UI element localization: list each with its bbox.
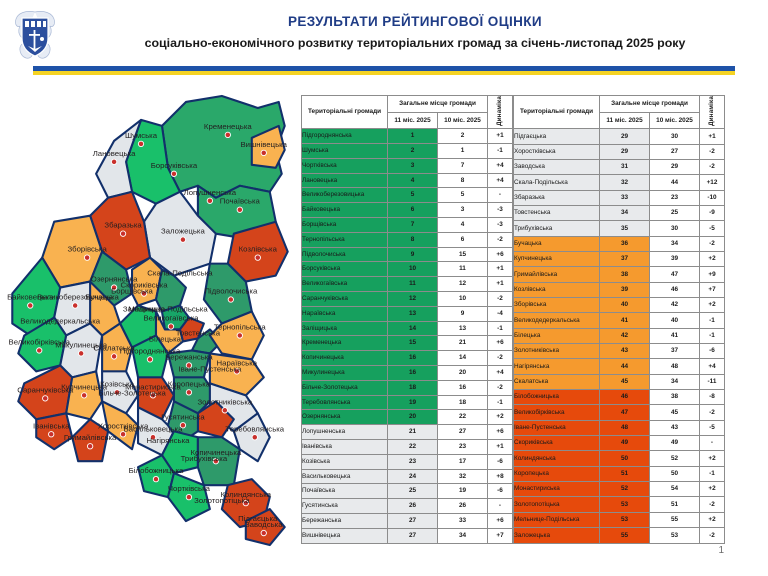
cell-dynamics: +1 [700,129,725,144]
cell-rank-10-months: 38 [650,390,700,405]
table-row[interactable]: Золотопотіцька5351-2 [514,497,725,512]
table-row[interactable]: Саранчуківська1210-2 [302,291,513,306]
table-row[interactable]: Підгаєцька2930+1 [514,129,725,144]
cell-rank-11-months: 27 [388,513,438,528]
th-overall-place: Загальне місце громади [600,96,700,113]
ternopil-oblast-map[interactable]: ШумськаКременецькаЛановецькаБорсуківська… [0,84,300,554]
cell-hromada-name: Підгаєцька [514,129,600,144]
cell-dynamics: -2 [700,236,725,251]
table-row[interactable]: Копичинецька1614-2 [302,351,513,366]
cell-rank-10-months: 50 [650,466,700,481]
table-row[interactable]: Скориківська4949- [514,436,725,451]
table-row[interactable]: Збаразька3323-10 [514,190,725,205]
cell-rank-10-months: 30 [650,129,700,144]
table-row[interactable]: Білецька4241-1 [514,328,725,343]
table-row[interactable]: Монастириська5254+2 [514,482,725,497]
cell-hromada-name: Заводська [514,159,600,174]
cell-dynamics: -8 [700,390,725,405]
cell-rank-10-months: 13 [438,321,488,336]
cell-dynamics: -6 [488,484,513,499]
cell-rank-10-months: 27 [650,144,700,159]
table-row[interactable]: Байковецька63-3 [302,203,513,218]
map-region-koropetska[interactable] [36,413,72,449]
cell-hromada-name: Великобірківська [514,405,600,420]
cell-hromada-name: Теребовлянська [302,395,388,410]
cell-dynamics: +1 [488,129,513,144]
cell-dynamics: +4 [488,158,513,173]
table-row[interactable]: Борщівська74-3 [302,217,513,232]
cell-dynamics: +2 [700,297,725,312]
cell-rank-11-months: 8 [388,232,438,247]
cell-rank-10-months: 40 [650,313,700,328]
table-row[interactable]: Борсуківська1011+1 [302,262,513,277]
cell-hromada-name: Вишнівецька [302,528,388,543]
table-row[interactable]: Іване-Пустенська4843-5 [514,420,725,435]
table-row[interactable]: Підволочиська915+6 [302,247,513,262]
header-row-1: Територіальні громади Загальне місце гро… [302,96,513,113]
header-row-1: Територіальні громади Загальне місце гро… [514,96,725,113]
cell-rank-11-months: 15 [388,336,438,351]
cell-rank-11-months: 16 [388,365,438,380]
cell-hromada-name: Великогаївська [302,277,388,292]
cell-rank-11-months: 53 [600,497,650,512]
table-head-left: Територіальні громади Загальне місце гро… [302,96,513,129]
cell-rank-10-months: 20 [438,365,488,380]
cell-rank-11-months: 40 [600,297,650,312]
cell-rank-11-months: 14 [388,321,438,336]
cell-rank-10-months: 26 [438,499,488,514]
cell-rank-10-months: 46 [650,282,700,297]
th-10-months: 10 міс. 2025 [438,112,488,129]
cell-rank-11-months: 46 [600,390,650,405]
th-dynamics: Динаміка [700,96,725,129]
table-row[interactable]: Микулинецька1620+4 [302,365,513,380]
cell-dynamics: - [488,499,513,514]
cell-hromada-name: Козлівська [514,282,600,297]
cell-rank-11-months: 49 [600,436,650,451]
cell-dynamics: +1 [488,277,513,292]
table-row[interactable]: Великогаївська1112+1 [302,277,513,292]
cell-rank-10-months: 23 [650,190,700,205]
cell-rank-11-months: 48 [600,420,650,435]
th-hromada-name: Територіальні громади [302,96,388,129]
table-row[interactable]: Бережанська2733+6 [302,513,513,528]
cell-rank-11-months: 52 [600,482,650,497]
ternopil-oblast-coat-of-arms-icon [8,8,62,64]
cell-rank-11-months: 44 [600,359,650,374]
cell-rank-11-months: 55 [600,528,650,544]
table-row[interactable]: Мельнице-Подільська5355+2 [514,512,725,527]
cell-rank-11-months: 19 [388,395,438,410]
table-row[interactable]: Іванівська2223+1 [302,439,513,454]
map-svg: ШумськаКременецькаЛановецькаБорсуківська… [0,84,300,554]
cell-hromada-name: Великодедеркальська [514,313,600,328]
cell-hromada-name: Скориківська [514,436,600,451]
cell-dynamics: -6 [488,454,513,469]
cell-rank-10-months: 54 [650,482,700,497]
cell-rank-10-months: 37 [650,344,700,359]
th-dynamics: Динаміка [488,96,513,129]
cell-rank-11-months: 42 [600,328,650,343]
cell-dynamics: -4 [488,306,513,321]
cell-rank-10-months: 5 [438,188,488,203]
cell-rank-11-months: 41 [600,313,650,328]
cell-rank-11-months: 4 [388,173,438,188]
cell-rank-11-months: 50 [600,451,650,466]
cell-dynamics: +12 [700,175,725,190]
table-row[interactable]: Підгороднянська12+1 [302,129,513,144]
cell-dynamics: +2 [700,482,725,497]
cell-dynamics: -3 [488,203,513,218]
cell-hromada-name: Коропецька [514,466,600,481]
cell-hromada-name: Копичинецька [302,351,388,366]
cell-hromada-name: Скала-Подільська [514,175,600,190]
table-row[interactable]: Трибухівська3530-5 [514,221,725,236]
cell-hromada-name: Чортківська [302,158,388,173]
table-row[interactable]: Чортківська37+4 [302,158,513,173]
table-row[interactable]: Озернянська2022+2 [302,410,513,425]
table-row[interactable]: Васильковецька2432+8 [302,469,513,484]
table-row[interactable]: Зборівська4042+2 [514,297,725,312]
cell-rank-11-months: 5 [388,188,438,203]
cell-dynamics: - [700,436,725,451]
table-row[interactable]: Лопушненська2127+6 [302,425,513,440]
cell-hromada-name: Золотопотіцька [514,497,600,512]
cell-hromada-name: Зборівська [514,297,600,312]
cell-hromada-name: Мельнице-Подільська [514,512,600,527]
slide-header: РЕЗУЛЬТАТИ РЕЙТИНГОВОЇ ОЦІНКИ соціально-… [0,0,768,78]
cell-dynamics: -1 [700,466,725,481]
cell-rank-11-months: 2 [388,143,438,158]
cell-dynamics: +2 [700,251,725,266]
cell-rank-10-months: 29 [650,159,700,174]
cell-hromada-name: Борщівська [302,217,388,232]
cell-dynamics: +4 [488,173,513,188]
cell-hromada-name: Скалатська [514,374,600,389]
cell-rank-10-months: 7 [438,158,488,173]
cell-rank-11-months: 13 [388,306,438,321]
cell-dynamics: +6 [488,513,513,528]
table-body-left: Підгороднянська12+1Шумська21-1Чортківськ… [302,129,513,544]
cell-hromada-name: Гусятинська [302,499,388,514]
cell-dynamics: -1 [700,328,725,343]
table-row[interactable]: Шумська21-1 [302,143,513,158]
cell-rank-11-months: 37 [600,251,650,266]
table-row[interactable]: Колиндянська5052+2 [514,451,725,466]
cell-rank-11-months: 23 [388,454,438,469]
cell-rank-11-months: 10 [388,262,438,277]
cell-dynamics: -2 [700,405,725,420]
cell-rank-10-months: 30 [650,221,700,236]
cell-rank-11-months: 35 [600,221,650,236]
table-head-right: Територіальні громади Загальне місце гро… [514,96,725,129]
cell-rank-10-months: 55 [650,512,700,527]
cell-rank-10-months: 45 [650,405,700,420]
cell-rank-10-months: 47 [650,267,700,282]
table-row[interactable]: Козівська2317-6 [302,454,513,469]
cell-dynamics: +1 [488,439,513,454]
cell-rank-10-months: 11 [438,262,488,277]
cell-hromada-name: Гримайлівська [514,267,600,282]
cell-dynamics: -2 [700,159,725,174]
cell-rank-11-months: 7 [388,217,438,232]
table-row[interactable]: Хоростківська2927-2 [514,144,725,159]
cell-dynamics: +2 [700,512,725,527]
table-row[interactable]: Заложецька5553-2 [514,528,725,544]
cell-rank-10-months: 15 [438,247,488,262]
cell-dynamics: +7 [488,528,513,543]
cell-rank-11-months: 12 [388,291,438,306]
cell-dynamics: -11 [700,374,725,389]
cell-rank-11-months: 38 [600,267,650,282]
th-11-months: 11 міс. 2025 [388,112,438,129]
cell-rank-11-months: 27 [388,528,438,543]
cell-rank-10-months: 53 [650,528,700,544]
cell-rank-11-months: 3 [388,158,438,173]
cell-dynamics: +6 [488,247,513,262]
cell-dynamics: -2 [700,144,725,159]
cell-rank-10-months: 4 [438,217,488,232]
cell-rank-10-months: 1 [438,143,488,158]
cell-rank-10-months: 44 [650,175,700,190]
cell-hromada-name: Озернянська [302,410,388,425]
table-row[interactable]: Купчинецька3739+2 [514,251,725,266]
cell-hromada-name: Збаразька [514,190,600,205]
cell-hromada-name: Бучацька [514,236,600,251]
th-hromada-name: Територіальні громади [514,96,600,129]
cell-rank-10-months: 27 [438,425,488,440]
cell-rank-10-months: 34 [438,528,488,543]
cell-hromada-name: Більче-Золотецька [302,380,388,395]
map-region-zolotopotitska[interactable] [72,419,108,461]
cell-hromada-name: Саранчуківська [302,291,388,306]
flag-yellow-stripe [33,71,735,76]
cell-rank-10-months: 3 [438,203,488,218]
cell-dynamics: -1 [488,143,513,158]
cell-dynamics: -1 [488,321,513,336]
table-row[interactable]: Великоберезовицька55- [302,188,513,203]
cell-rank-11-months: 22 [388,439,438,454]
table-row[interactable]: Кременецька1521+6 [302,336,513,351]
cell-rank-10-months: 39 [650,251,700,266]
table-row[interactable]: Почаївська2519-6 [302,484,513,499]
cell-dynamics: -9 [700,205,725,220]
th-overall-place: Загальне місце громади [388,96,488,113]
cell-rank-11-months: 36 [600,236,650,251]
cell-rank-11-months: 32 [600,175,650,190]
cell-dynamics: +6 [488,336,513,351]
table-row[interactable]: Гримайлівська3847+9 [514,267,725,282]
cell-rank-10-months: 21 [438,336,488,351]
table-row[interactable]: Нагірянська4448+4 [514,359,725,374]
cell-rank-11-months: 43 [600,344,650,359]
th-11-months: 11 міс. 2025 [600,112,650,129]
cell-hromada-name: Підволочиська [302,247,388,262]
cell-rank-11-months: 45 [600,374,650,389]
cell-dynamics: -2 [700,497,725,512]
cell-rank-10-months: 12 [438,277,488,292]
cell-dynamics: +4 [700,359,725,374]
table-row[interactable]: Скала-Подільська3244+12 [514,175,725,190]
cell-hromada-name: Васильковецька [302,469,388,484]
cell-hromada-name: Тернопільська [302,232,388,247]
cell-rank-10-months: 43 [650,420,700,435]
cell-dynamics: -2 [488,291,513,306]
cell-dynamics: -2 [488,380,513,395]
cell-hromada-name: Бережанська [302,513,388,528]
cell-hromada-name: Хоростківська [514,144,600,159]
cell-dynamics: -1 [700,313,725,328]
th-dynamics-label: Динаміка [708,96,715,126]
cell-hromada-name: Заліщицька [302,321,388,336]
cell-dynamics: -5 [700,221,725,236]
cell-rank-10-months: 32 [438,469,488,484]
table-row[interactable]: Гусятинська2626- [302,499,513,514]
cell-hromada-name: Шумська [302,143,388,158]
cell-hromada-name: Байковецька [302,203,388,218]
cell-rank-11-months: 47 [600,405,650,420]
cell-rank-10-months: 16 [438,380,488,395]
cell-dynamics: - [488,188,513,203]
cell-rank-11-months: 9 [388,247,438,262]
cell-rank-11-months: 20 [388,410,438,425]
cell-dynamics: -6 [700,344,725,359]
table-row[interactable]: Тернопільська86-2 [302,232,513,247]
table-row[interactable]: Великобірківська4745-2 [514,405,725,420]
rating-table-left[interactable]: Територіальні громади Загальне місце гро… [301,95,513,544]
cell-dynamics: +2 [700,451,725,466]
cell-rank-10-months: 34 [650,236,700,251]
cell-rank-11-months: 31 [600,159,650,174]
cell-hromada-name: Монастириська [514,482,600,497]
cell-hromada-name: Іванівська [302,439,388,454]
cell-hromada-name: Микулинецька [302,365,388,380]
table-row[interactable]: Козлівська3946+7 [514,282,725,297]
cell-rank-11-months: 18 [388,380,438,395]
page-subtitle: соціально-економічного розвитку територі… [70,36,760,50]
page-title: РЕЗУЛЬТАТИ РЕЙТИНГОВОЇ ОЦІНКИ [70,14,760,29]
cell-rank-10-months: 18 [438,395,488,410]
cell-hromada-name: Борсуківська [302,262,388,277]
cell-dynamics: +4 [488,365,513,380]
cell-dynamics: +8 [488,469,513,484]
cell-rank-11-months: 25 [388,484,438,499]
cell-rank-11-months: 26 [388,499,438,514]
cell-rank-10-months: 8 [438,173,488,188]
cell-rank-10-months: 49 [650,436,700,451]
table-row[interactable]: Вишнівецька2734+7 [302,528,513,543]
th-10-months: 10 міс. 2025 [650,112,700,129]
cell-hromada-name: Купчинецька [514,251,600,266]
table-row[interactable]: Більче-Золотецька1816-2 [302,380,513,395]
cell-dynamics: -2 [700,528,725,544]
cell-rank-10-months: 2 [438,129,488,144]
table-body-right: Підгаєцька2930+1Хоростківська2927-2Завод… [514,129,725,544]
cell-dynamics: +2 [488,410,513,425]
table-row[interactable]: Коропецька5150-1 [514,466,725,481]
cell-dynamics: -5 [700,420,725,435]
cell-rank-11-months: 16 [388,351,438,366]
cell-rank-11-months: 53 [600,512,650,527]
cell-rank-11-months: 11 [388,277,438,292]
table-row[interactable]: Заліщицька1413-1 [302,321,513,336]
cell-rank-11-months: 24 [388,469,438,484]
cell-hromada-name: Лановецька [302,173,388,188]
map-region-monastyryska[interactable] [18,365,72,419]
cell-dynamics: -10 [700,190,725,205]
cell-rank-10-months: 17 [438,454,488,469]
cell-dynamics: -2 [488,232,513,247]
cell-dynamics: +9 [700,267,725,282]
cell-hromada-name: Золотниківська [514,344,600,359]
cell-rank-10-months: 42 [650,297,700,312]
cell-hromada-name: Лопушненська [302,425,388,440]
cell-dynamics: -3 [488,217,513,232]
cell-rank-10-months: 25 [650,205,700,220]
cell-rank-10-months: 41 [650,328,700,343]
map-region-velykohaivska[interactable] [156,270,186,312]
cell-rank-10-months: 14 [438,351,488,366]
cell-hromada-name: Товстенська [514,205,600,220]
cell-rank-10-months: 34 [650,374,700,389]
cell-hromada-name: Колиндянська [514,451,600,466]
table-row[interactable]: Теребовлянська1918-1 [302,395,513,410]
cell-rank-11-months: 29 [600,144,650,159]
table-row[interactable]: Товстенська3425-9 [514,205,725,220]
cell-hromada-name: Білобожницька [514,390,600,405]
cell-dynamics: +7 [700,282,725,297]
cell-hromada-name: Трибухівська [514,221,600,236]
page-number: 1 [718,545,724,556]
ukraine-flag-divider [33,66,735,75]
cell-hromada-name: Іване-Пустенська [514,420,600,435]
cell-hromada-name: Великоберезовицька [302,188,388,203]
cell-rank-11-months: 29 [600,129,650,144]
cell-rank-11-months: 6 [388,203,438,218]
cell-rank-10-months: 51 [650,497,700,512]
table-row[interactable]: Великодедеркальська4140-1 [514,313,725,328]
rating-tables: Територіальні громади Загальне місце гро… [301,95,725,538]
table-row[interactable]: Бучацька3634-2 [514,236,725,251]
cell-rank-10-months: 48 [650,359,700,374]
cell-rank-11-months: 1 [388,129,438,144]
cell-hromada-name: Білецька [514,328,600,343]
cell-rank-11-months: 34 [600,205,650,220]
table-row[interactable]: Заводська3129-2 [514,159,725,174]
cell-dynamics: +1 [488,262,513,277]
table-row[interactable]: Нараївська139-4 [302,306,513,321]
th-dynamics-label: Динаміка [496,96,503,126]
table-row[interactable]: Лановецька48+4 [302,173,513,188]
table-row[interactable]: Скалатська4534-11 [514,374,725,389]
title-block: РЕЗУЛЬТАТИ РЕЙТИНГОВОЇ ОЦІНКИ соціально-… [70,14,760,50]
cell-rank-11-months: 39 [600,282,650,297]
cell-hromada-name: Почаївська [302,484,388,499]
cell-rank-10-months: 33 [438,513,488,528]
table-row[interactable]: Білобожницька4638-8 [514,390,725,405]
cell-dynamics: -1 [488,395,513,410]
cell-rank-10-months: 23 [438,439,488,454]
cell-rank-11-months: 51 [600,466,650,481]
cell-hromada-name: Нагірянська [514,359,600,374]
cell-rank-11-months: 21 [388,425,438,440]
table-row[interactable]: Золотниківська4337-6 [514,344,725,359]
cell-rank-10-months: 19 [438,484,488,499]
cell-hromada-name: Козівська [302,454,388,469]
cell-dynamics: +6 [488,425,513,440]
cell-hromada-name: Нараївська [302,306,388,321]
rating-table-right[interactable]: Територіальні громади Загальне місце гро… [513,95,725,544]
